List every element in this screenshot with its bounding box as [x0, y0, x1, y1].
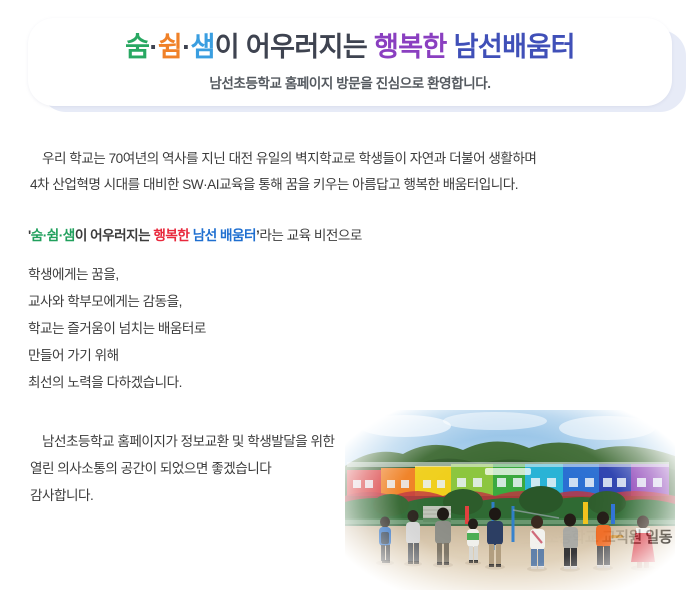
school-photo [345, 410, 675, 590]
school-photo-illustration [345, 410, 675, 590]
greeting-page: 숨·쉼·샘이 어우러지는 행복한 남선배움터 남선초등학교 홈페이지 방문을 진… [0, 0, 700, 574]
pledge-line-1: 학생에게는 꿈을, [28, 261, 358, 288]
intro-line-2: 4차 산업혁명 시대를 대비한 SW·AI교육을 통해 꿈을 키우는 아름답고 … [30, 172, 650, 198]
title-part-sum: 숨 [125, 32, 149, 62]
greeting-body: 우리 학교는 70여년의 역사를 지닌 대전 유일의 벽지학교로 학생들이 자연… [0, 128, 700, 574]
intro-paragraph: 우리 학교는 70여년의 역사를 지닌 대전 유일의 벽지학교로 학생들이 자연… [30, 146, 650, 198]
vision-tail: 라는 교육 비전으로 [259, 228, 362, 243]
title-connector: 이 어우러지는 [215, 32, 374, 62]
page-title: 숨·쉼·샘이 어우러지는 행복한 남선배움터 [125, 32, 575, 63]
vision-part-namseon-baeumteo: 남선 배움터 [189, 228, 256, 243]
vision-statement: '숨·쉼·샘이 어우러지는 행복한 남선 배움터’라는 교육 비전으로 [28, 225, 362, 247]
title-part-swim: 쉼 [158, 32, 182, 62]
banner-subtitle: 남선초등학교 홈페이지 방문을 진심으로 환영합니다. [209, 72, 490, 92]
vision-part-happy: 행복한 [153, 228, 189, 243]
title-part-saem: 샘 [190, 32, 214, 62]
pledge-line-3: 학교는 즐거움이 넘치는 배움터로 [28, 315, 358, 342]
vision-part-sum-swim-saem: 숨·쉼·샘 [31, 228, 75, 243]
intro-line-1: 우리 학교는 70여년의 역사를 지닌 대전 유일의 벽지학교로 학생들이 자연… [30, 146, 650, 172]
title-dot-1: · [149, 32, 157, 62]
title-part-happy: 행복한 [374, 32, 447, 62]
pledge-line-2: 교사와 학부모에게는 감동을, [28, 288, 358, 315]
pledge-line-4: 만들어 가기 위해 [28, 342, 358, 369]
pledge-list: 학생에게는 꿈을, 교사와 학부모에게는 감동을, 학교는 즐거움이 넘치는 배… [28, 261, 358, 396]
pledge-line-5: 최선의 노력을 다하겠습니다. [28, 369, 358, 396]
vision-part-connector: 이 어우러지는 [75, 228, 154, 243]
header-banner: 숨·쉼·샘이 어우러지는 행복한 남선배움터 남선초등학교 홈페이지 방문을 진… [0, 0, 700, 128]
banner-card: 숨·쉼·샘이 어우러지는 행복한 남선배움터 남선초등학교 홈페이지 방문을 진… [28, 18, 672, 106]
title-part-school: 남선배움터 [447, 32, 575, 62]
